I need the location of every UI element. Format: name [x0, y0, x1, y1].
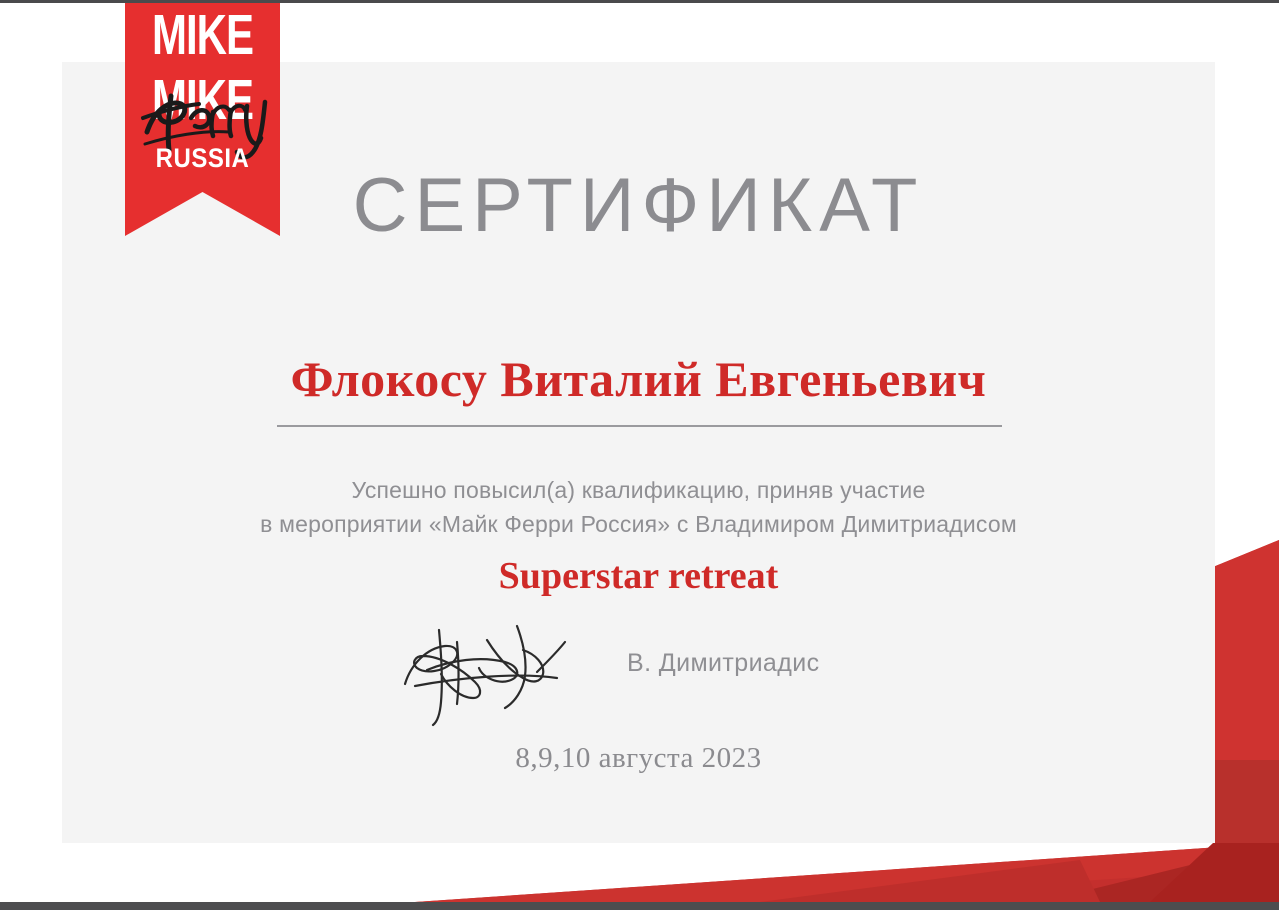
recipient-name: Флокосу Виталий Евгеньевич: [62, 350, 1215, 408]
event-name: Superstar retreat: [62, 554, 1215, 598]
ribbon-banner-icon: [125, 0, 280, 236]
signer-name: В. Димитриадис: [627, 649, 820, 678]
scan-edge-top: [0, 0, 1279, 3]
brand-ribbon: MIKE MIKE RUSSIA: [125, 0, 280, 236]
signature-icon: [397, 612, 607, 727]
scan-edge-bottom: [0, 902, 1279, 910]
name-underline: [277, 425, 1002, 427]
signature-row: В. Димитриадис: [62, 617, 1215, 732]
certificate-body-line-1: Успешно повысил(а) квалификацию, приняв …: [62, 477, 1215, 504]
certificate-date: 8,9,10 августа 2023: [62, 742, 1215, 775]
certificate-body-line-2: в мероприятии «Майк Ферри Россия» с Влад…: [62, 511, 1215, 538]
certificate-document: MIKE MIKE RUSSIA СЕРТИФИКАТ Ф: [0, 0, 1279, 910]
